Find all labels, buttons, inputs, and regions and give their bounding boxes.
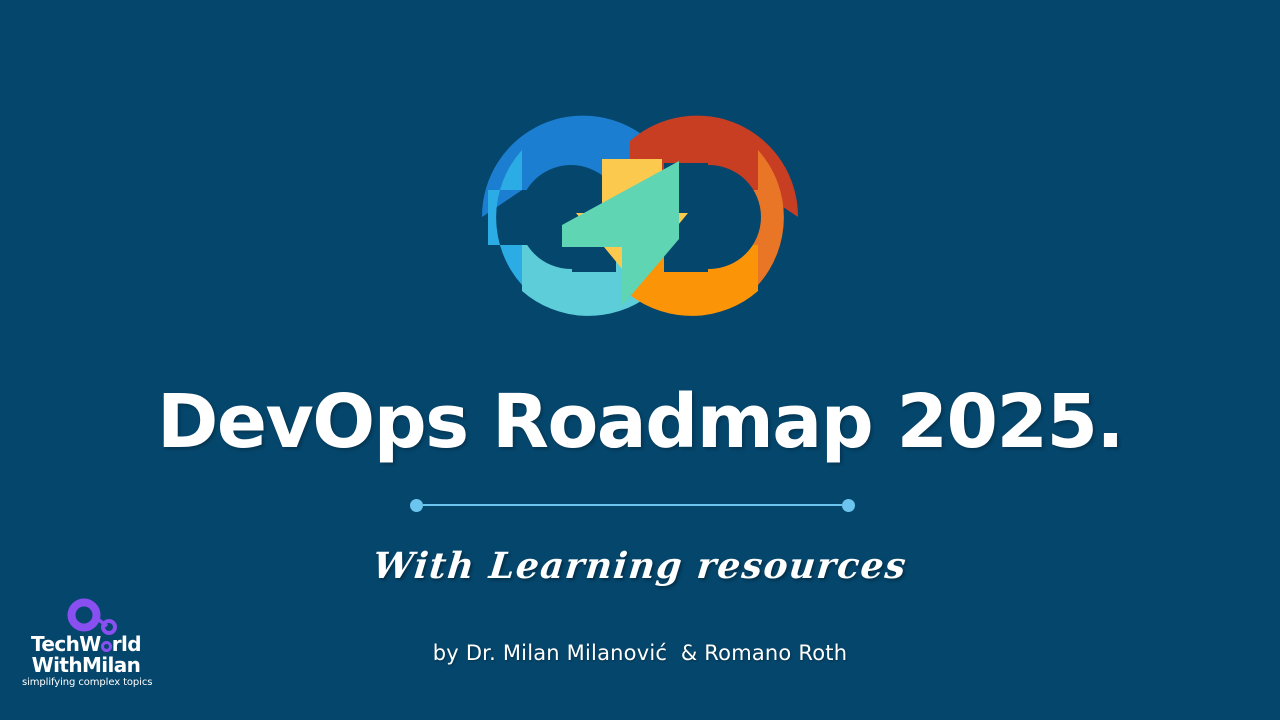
byline: by Dr. Milan Milanović & Romano Roth <box>0 639 1280 667</box>
techworld-with-milan-logo: TechWrld WithMilan simplifying complex t… <box>22 598 150 696</box>
devops-infinity-logo <box>426 95 854 340</box>
divider-line <box>423 504 842 506</box>
page-title: DevOps Roadmap 2025. <box>0 378 1280 466</box>
divider <box>410 496 855 514</box>
subtitle: With Learning resources <box>0 540 1280 592</box>
brand-o-ring-icon <box>101 641 112 652</box>
divider-dot-left-icon <box>410 499 423 512</box>
brand-wordmark-line2: WithMilan <box>22 655 150 676</box>
slide-canvas: DevOps Roadmap 2025. With Learning resou… <box>0 0 1280 720</box>
divider-dot-right-icon <box>842 499 855 512</box>
brand-tagline: simplifying complex topics <box>22 677 150 689</box>
brand-wordmark-line1: TechWrld <box>22 634 150 655</box>
brand-wordmark: TechWrld WithMilan <box>22 634 150 676</box>
